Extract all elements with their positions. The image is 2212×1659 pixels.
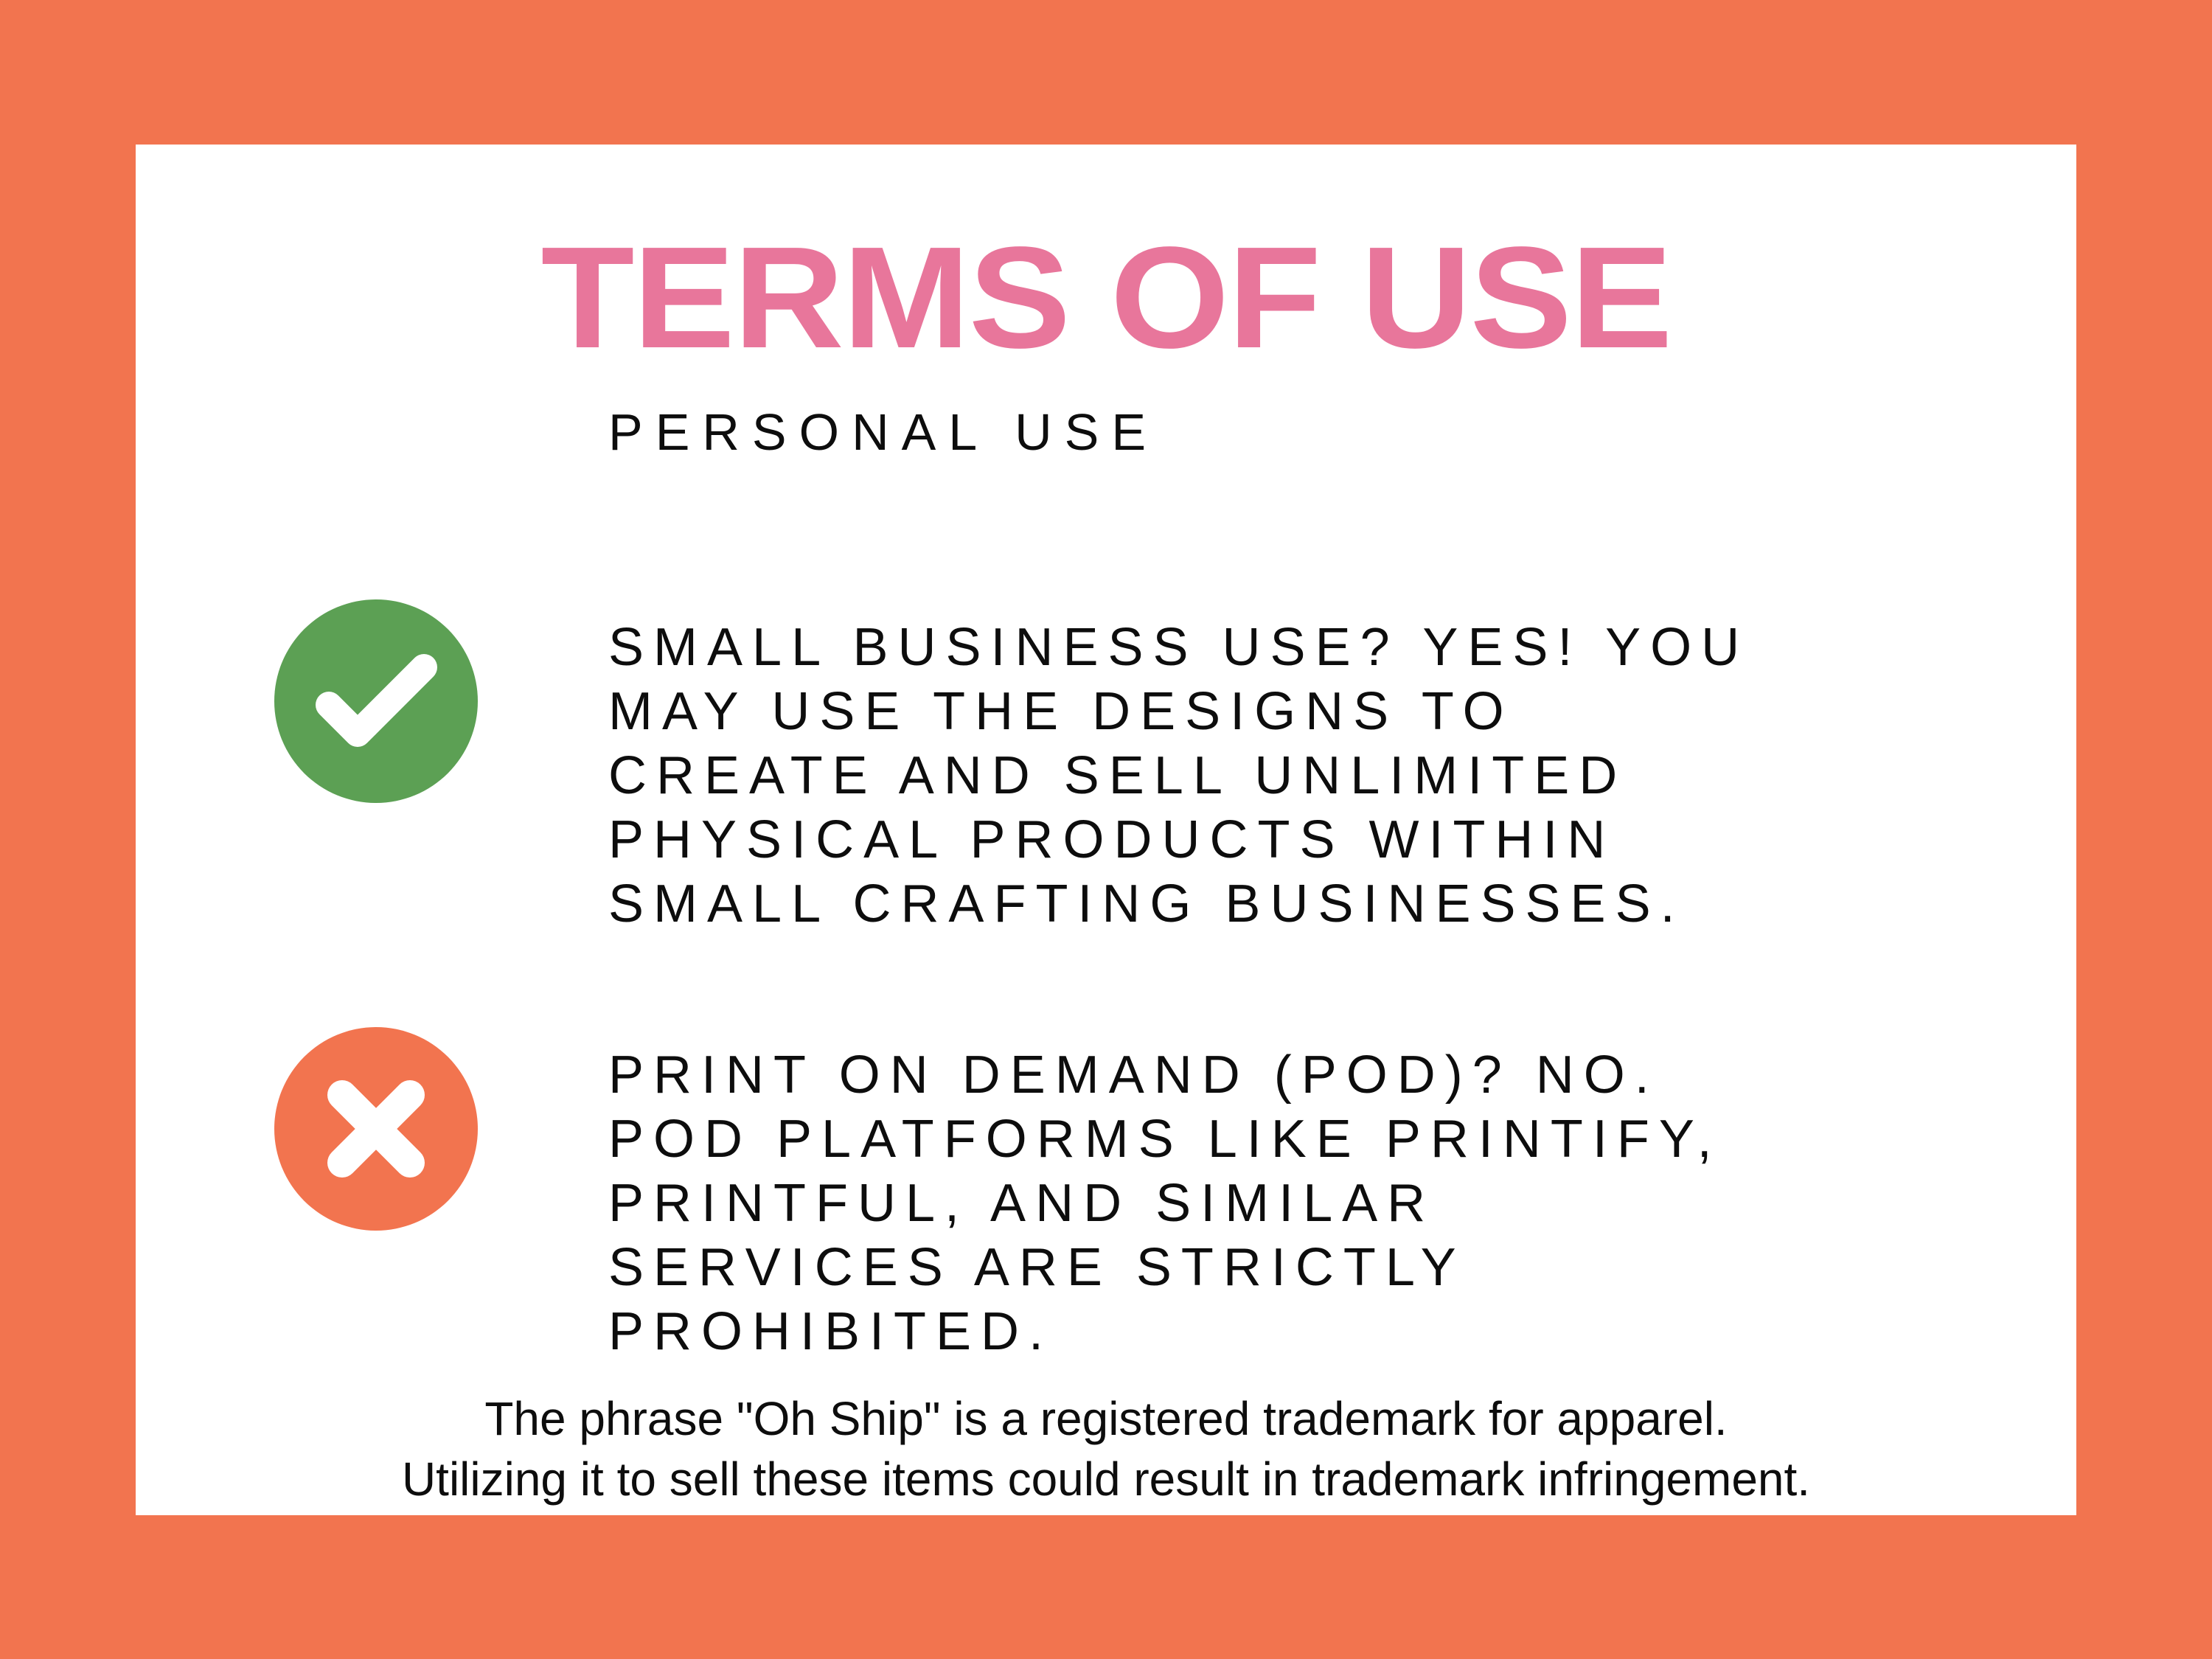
prohibited-use-text: PRINT ON DEMAND (POD)? NO. POD PLATFORMS… [608, 1043, 1722, 1364]
terms-row-allowed: SMALL BUSINESS USE? YES! YOU MAY USE THE… [274, 599, 1749, 936]
terms-row-prohibited: PRINT ON DEMAND (POD)? NO. POD PLATFORMS… [274, 1027, 1722, 1364]
trademark-disclaimer: The phrase "Oh Ship" is a registered tra… [136, 1388, 2076, 1509]
cross-circle-icon [274, 1027, 478, 1231]
page-title: TERMS OF USE [77, 226, 2135, 370]
poster-canvas: TERMS OF USE PERSONAL USE SMALL BUSINESS… [0, 0, 2212, 1659]
check-circle-icon [274, 599, 478, 803]
content-card: TERMS OF USE PERSONAL USE SMALL BUSINESS… [136, 145, 2076, 1515]
allowed-use-text: SMALL BUSINESS USE? YES! YOU MAY USE THE… [608, 616, 1749, 936]
personal-use-label: PERSONAL USE [608, 401, 1158, 463]
